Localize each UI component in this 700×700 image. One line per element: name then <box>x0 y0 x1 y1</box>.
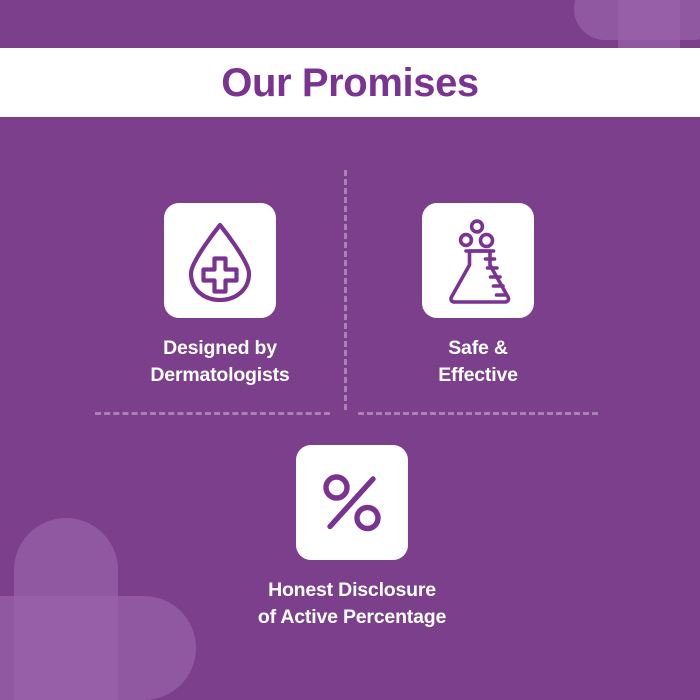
promise-label: Safe & Effective <box>438 335 518 388</box>
promise-item-designed-by-dermatologists: Designed by Dermatologists <box>95 203 345 388</box>
promise-label: Honest Disclosure of Active Percentage <box>258 577 446 630</box>
promise-item-honest-disclosure: Honest Disclosure of Active Percentage <box>222 445 482 630</box>
cross-horizontal-bar <box>574 0 700 40</box>
page-title: Our Promises <box>221 63 479 103</box>
promise-label: Designed by Dermatologists <box>150 335 289 388</box>
header-banner: Our Promises <box>0 48 700 117</box>
horizontal-dashed-divider-right <box>358 412 598 415</box>
flask-icon <box>443 218 513 304</box>
promises-content: Designed by Dermatologists <box>0 117 700 700</box>
droplet-plus-icon <box>183 220 257 302</box>
promises-poster: Our Promises Designed by Dermatologists <box>0 0 700 700</box>
icon-card <box>422 203 534 318</box>
icon-card <box>164 203 276 318</box>
promise-item-safe-and-effective: Safe & Effective <box>358 203 598 388</box>
horizontal-dashed-divider-left <box>95 412 330 415</box>
percent-icon <box>320 472 384 534</box>
icon-card <box>296 445 408 560</box>
